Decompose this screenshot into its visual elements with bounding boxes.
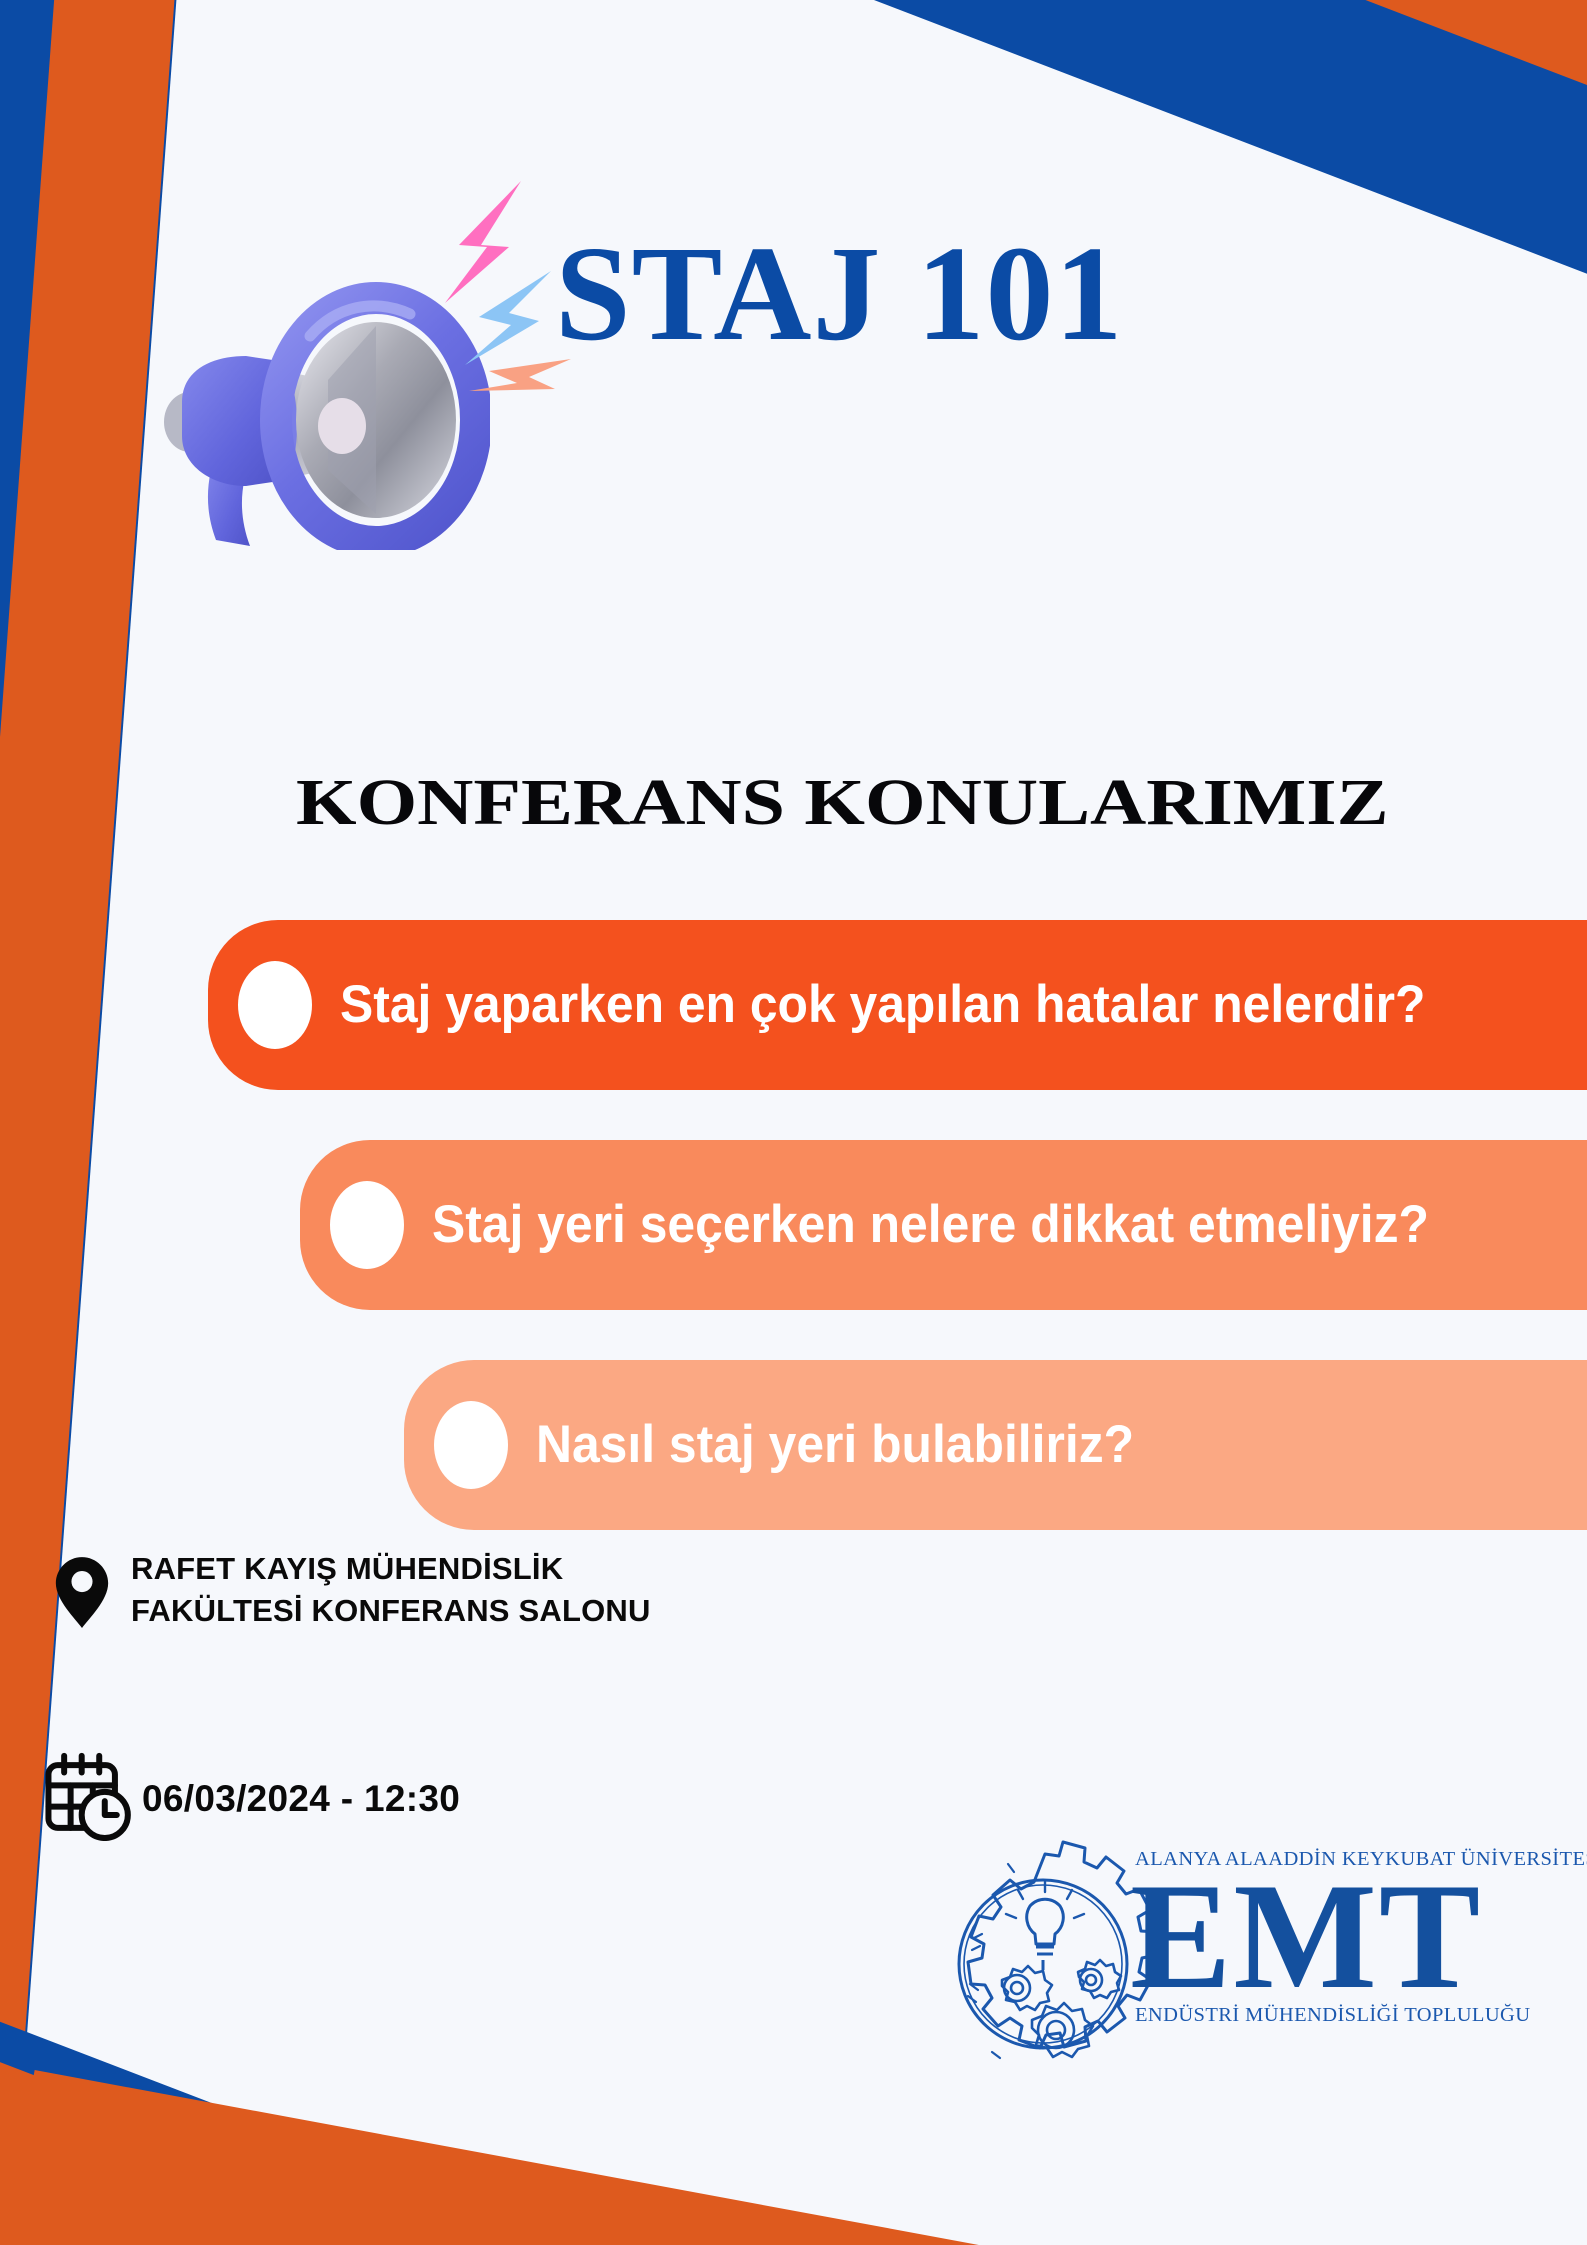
bullet-dot-icon: [238, 961, 312, 1049]
logo-acronym: EMT: [1130, 1865, 1570, 2008]
bullet-dot-icon: [330, 1181, 404, 1269]
datetime-label: 06/03/2024 - 12:30: [142, 1778, 460, 1820]
decor-band-left-orange: [0, 0, 180, 2245]
gear-lightbulb-icon: [930, 1838, 1160, 2088]
decor-band-topright-orange: [623, 0, 1587, 252]
topic-pill-1-label: Staj yaparken en çok yapılan hatalar nel…: [340, 971, 1425, 1040]
bullet-dot-icon: [434, 1401, 508, 1489]
decor-band-bottomleft-orange: [0, 1803, 724, 2245]
venue-label: RAFET KAYIŞ MÜHENDİSLİK FAKÜLTESİ KONFER…: [131, 1548, 695, 1632]
lightning-bolt-blue-icon: [465, 271, 551, 365]
topic-pill-2: Staj yeri seçerken nelere dikkat etmeliy…: [300, 1140, 1587, 1310]
datetime-block: 06/03/2024 - 12:30: [42, 1752, 460, 1846]
topic-pill-3-label: Nasıl staj yeri bulabiliriz?: [536, 1411, 1134, 1480]
section-heading: KONFERANS KONULARIMIZ: [296, 770, 1587, 836]
lightning-bolt-pink-icon: [445, 181, 521, 303]
topic-pill-1: Staj yaparken en çok yapılan hatalar nel…: [208, 920, 1587, 1090]
venue-block: RAFET KAYIŞ MÜHENDİSLİK FAKÜLTESİ KONFER…: [55, 1548, 695, 1634]
topic-pill-2-label: Staj yeri seçerken nelere dikkat etmeliy…: [432, 1191, 1429, 1260]
poster-canvas: STAJ 101 KONFERANS KONULARIMIZ Staj yapa…: [0, 0, 1587, 2245]
calendar-clock-icon: [42, 1752, 138, 1846]
decor-band-left-blue: [0, 0, 179, 2245]
logo-society-label: ENDÜSTRİ MÜHENDİSLİĞİ TOPLULUĞU: [1135, 2004, 1570, 2027]
emt-logo: ALANYA ALAADDİN KEYKUBAT ÜNİVERSİTESİ EM…: [930, 1830, 1570, 2120]
map-pin-icon: [55, 1556, 109, 1634]
page-title: STAJ 101: [555, 226, 1555, 362]
topic-pill-3: Nasıl staj yeri bulabiliriz?: [404, 1360, 1587, 1530]
